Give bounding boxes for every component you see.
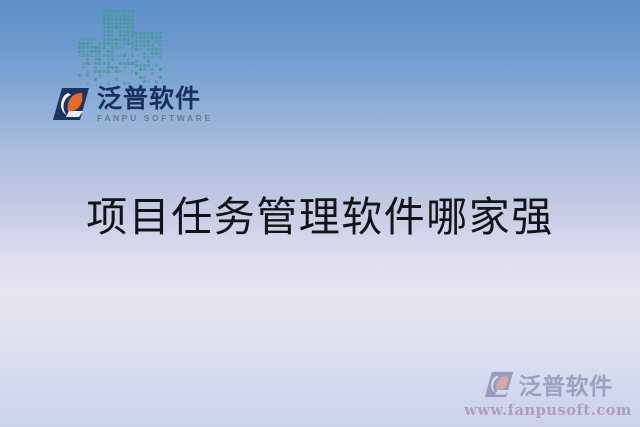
skyline-pixel <box>123 34 126 37</box>
skyline-pixel <box>78 38 81 41</box>
skyline-pixel <box>111 54 114 57</box>
skyline-pixel <box>119 18 122 21</box>
skyline-pixel <box>103 22 106 25</box>
skyline-pixel <box>115 66 118 69</box>
skyline-pixel <box>151 44 154 47</box>
skyline-pixel <box>86 54 89 57</box>
skyline-pixel <box>103 78 106 81</box>
skyline-pixel <box>82 78 85 81</box>
skyline-pixel <box>147 40 150 43</box>
skyline-pixel <box>139 72 142 75</box>
skyline-pixel <box>103 14 106 17</box>
skyline-pixel <box>115 46 118 49</box>
skyline-pixel <box>123 30 126 33</box>
skyline-pixel <box>98 58 101 61</box>
skyline-pixel <box>107 26 110 29</box>
skyline-pixel <box>127 78 130 81</box>
skyline-pixel <box>155 36 158 39</box>
skyline-pixel <box>135 64 138 67</box>
skyline-pixel <box>103 50 106 53</box>
skyline-pixel <box>115 74 118 77</box>
skyline-pixel <box>82 74 85 77</box>
skyline-pixel <box>139 80 142 83</box>
skyline-pixel <box>82 50 85 53</box>
skyline-pixel <box>131 58 134 61</box>
skyline-pixel <box>143 52 146 55</box>
skyline-pixel <box>107 18 110 21</box>
skyline-pixel <box>151 36 154 39</box>
skyline-pixel <box>135 36 138 39</box>
skyline-pixel <box>94 50 97 53</box>
skyline-pixel <box>143 32 146 35</box>
skyline-pixel <box>131 22 134 25</box>
skyline-pixel <box>143 64 146 67</box>
skyline-pixel <box>94 74 97 77</box>
skyline-pixel <box>78 58 81 61</box>
skyline-pixel <box>127 58 130 61</box>
skyline-pixel <box>143 68 146 71</box>
skyline-pixel <box>119 34 122 37</box>
skyline-pixel <box>107 34 110 37</box>
skyline-pixel <box>119 46 122 49</box>
skyline-pixel <box>135 76 138 79</box>
skyline-pixel <box>123 58 126 61</box>
skyline-pixel <box>111 66 114 69</box>
brand-wordmark: 泛普软件 FANPU SOFTWARE <box>97 86 213 123</box>
skyline-pixel <box>86 74 89 77</box>
skyline-pixel <box>123 26 126 29</box>
skyline-pixel <box>115 30 118 33</box>
skyline-pixel <box>151 32 154 35</box>
skyline-pixel <box>94 58 97 61</box>
skyline-pixel <box>151 64 154 67</box>
skyline-pixel <box>115 58 118 61</box>
skyline-pixel <box>111 18 114 21</box>
skyline-pixel <box>90 46 93 49</box>
skyline-pixel <box>115 42 118 45</box>
skyline-pixel <box>115 34 118 37</box>
skyline-pixel <box>82 70 85 73</box>
skyline-pixel <box>103 58 106 61</box>
skyline-pixel <box>107 30 110 33</box>
skyline-pixel <box>90 74 93 77</box>
skyline-pixel <box>90 66 93 69</box>
skyline-pixel <box>159 80 162 83</box>
skyline-pixel <box>123 62 126 65</box>
skyline-pixel <box>86 42 89 45</box>
skyline-pixel <box>107 22 110 25</box>
skyline-pixel <box>115 18 118 21</box>
skyline-pixel <box>78 62 81 65</box>
skyline-pixel <box>127 34 130 37</box>
skyline-pixel <box>86 38 89 41</box>
skyline-pixel <box>103 66 106 69</box>
skyline-pixel <box>107 46 110 49</box>
skyline-pixel <box>107 74 110 77</box>
skyline-pixel <box>131 70 134 73</box>
skyline-pixel <box>147 44 150 47</box>
skyline-pixel <box>90 50 93 53</box>
skyline-pixel <box>139 60 142 63</box>
watermark-lockup: 泛普软件 <box>484 367 613 401</box>
skyline-pixel <box>86 62 89 65</box>
skyline-pixel <box>123 14 126 17</box>
skyline-pixel <box>107 78 110 81</box>
skyline-pixel <box>86 50 89 53</box>
skyline-pixel <box>123 10 126 13</box>
skyline-pixel <box>82 62 85 65</box>
brand-name-en: FANPU SOFTWARE <box>97 114 213 123</box>
skyline-pixel <box>111 14 114 17</box>
skyline-pixel <box>86 58 89 61</box>
skyline-pixel <box>143 72 146 75</box>
skyline-pixel <box>78 74 81 77</box>
skyline-pixel <box>119 62 122 65</box>
skyline-pixel <box>139 52 142 55</box>
skyline-pixel <box>98 78 101 81</box>
skyline-pixel <box>78 42 81 45</box>
skyline-pixel <box>147 72 150 75</box>
skyline-pixel <box>135 80 138 83</box>
skyline-pixel <box>119 42 122 45</box>
skyline-pixel <box>94 78 97 81</box>
skyline-pixel <box>139 44 142 47</box>
skyline-pixel <box>119 22 122 25</box>
skyline-pixel <box>135 48 138 51</box>
skyline-pixel <box>151 80 154 83</box>
skyline-pixel <box>127 62 130 65</box>
skyline-pixel <box>115 14 118 17</box>
skyline-pixel <box>103 70 106 73</box>
brand-logo: 泛普软件 FANPU SOFTWARE <box>52 86 213 123</box>
skyline-pixel <box>159 56 162 59</box>
skyline-pixel <box>155 44 158 47</box>
skyline-pixel <box>123 54 126 57</box>
skyline-pixel <box>135 44 138 47</box>
skyline-pixel <box>94 42 97 45</box>
skyline-pixel <box>143 76 146 79</box>
skyline-pixel <box>78 66 81 69</box>
skyline-pixel <box>135 52 138 55</box>
brand-name-cn: 泛普软件 <box>97 86 213 111</box>
skyline-pixel <box>131 42 134 45</box>
skyline-pixel <box>151 48 154 51</box>
skyline-pixel <box>98 38 101 41</box>
skyline-pixel <box>131 62 134 65</box>
skyline-pixel <box>111 50 114 53</box>
skyline-pixel <box>94 54 97 57</box>
skyline-pixel <box>131 26 134 29</box>
skyline-pixel <box>131 50 134 53</box>
skyline-pixel <box>147 68 150 71</box>
skyline-pixel <box>135 40 138 43</box>
skyline-pixel <box>139 68 142 71</box>
skyline-pixel <box>135 56 138 59</box>
skyline-pixel <box>127 46 130 49</box>
skyline-pixel <box>103 54 106 57</box>
skyline-pixel <box>123 18 126 21</box>
skyline-pixel <box>111 46 114 49</box>
skyline-pixel <box>115 70 118 73</box>
page-title: 项目任务管理软件哪家强 <box>0 183 640 243</box>
skyline-pixel <box>131 18 134 21</box>
skyline-pixel <box>115 78 118 81</box>
skyline-pixel <box>90 42 93 45</box>
skyline-pixel <box>123 38 126 41</box>
skyline-pixel <box>127 50 130 53</box>
skyline-pixel <box>111 34 114 37</box>
skyline-pixel <box>94 38 97 41</box>
skyline-pixel <box>127 42 130 45</box>
skyline-pixel <box>135 60 138 63</box>
skyline-pixel <box>127 38 130 41</box>
skyline-pixel <box>90 54 93 57</box>
skyline-pixel <box>155 60 158 63</box>
skyline-pixel <box>111 22 114 25</box>
right-building <box>135 32 162 82</box>
skyline-pixel <box>127 66 130 69</box>
skyline-pixel <box>131 66 134 69</box>
skyline-pixel <box>155 52 158 55</box>
skyline-pixel <box>159 44 162 47</box>
skyline-pixel <box>131 54 134 57</box>
skyline-pixel <box>115 26 118 29</box>
skyline-pixel <box>98 42 101 45</box>
skyline-pixel <box>147 60 150 63</box>
skyline-pixel <box>155 64 158 67</box>
skyline-pixel <box>82 42 85 45</box>
skyline-pixel <box>103 30 106 33</box>
skyline-pixel <box>135 68 138 71</box>
skyline-pixel <box>131 30 134 33</box>
skyline-pixel <box>127 54 130 57</box>
skyline-pixel <box>90 78 93 81</box>
skyline-pixel <box>147 64 150 67</box>
skyline-pixel <box>147 80 150 83</box>
skyline-pixel <box>94 70 97 73</box>
skyline-pixel <box>98 66 101 69</box>
skyline-pixel <box>107 54 110 57</box>
skyline-pixel <box>151 60 154 63</box>
skyline-pixel <box>123 42 126 45</box>
left-building <box>78 38 101 82</box>
skyline-pixel <box>135 72 138 75</box>
skyline-pixel <box>119 30 122 33</box>
skyline-pixel <box>139 76 142 79</box>
skyline-pixel <box>119 10 122 13</box>
skyline-pixel <box>98 74 101 77</box>
skyline-pixel <box>94 66 97 69</box>
skyline-pixel <box>98 50 101 53</box>
skyline-pixel <box>78 46 81 49</box>
skyline-pixel <box>103 34 106 37</box>
skyline-pixel <box>78 54 81 57</box>
skyline-pixel <box>131 74 134 77</box>
skyline-pixel <box>151 40 154 43</box>
skyline-pixel <box>131 38 134 41</box>
skyline-pixel <box>111 26 114 29</box>
fanpu-logo-mark <box>52 87 90 121</box>
skyline-pixel <box>111 30 114 33</box>
skyline-pixel <box>155 48 158 51</box>
skyline-pixel <box>151 76 154 79</box>
skyline-pixel <box>155 68 158 71</box>
skyline-pixel <box>94 62 97 65</box>
skyline-pixel <box>127 22 130 25</box>
skyline-pixel <box>107 42 110 45</box>
skyline-pixel <box>155 76 158 79</box>
skyline-pixel <box>103 26 106 29</box>
skyline-pixel <box>139 32 142 35</box>
skyline-pixel <box>115 38 118 41</box>
skyline-pixel <box>119 54 122 57</box>
skyline-pixel <box>94 46 97 49</box>
skyline-pixel <box>127 26 130 29</box>
skyline-pixel <box>147 48 150 51</box>
skyline-pixel <box>127 30 130 33</box>
skyline-pixel <box>123 78 126 81</box>
skyline-pixel <box>111 38 114 41</box>
skyline-pixel <box>159 64 162 67</box>
skyline-pixel <box>107 66 110 69</box>
skyline-pixel <box>107 62 110 65</box>
skyline-pixel <box>103 74 106 77</box>
skyline-pixel <box>90 38 93 41</box>
skyline-pixel <box>115 50 118 53</box>
skyline-pixel <box>127 14 130 17</box>
skyline-pixel <box>131 10 134 13</box>
skyline-pixel <box>119 14 122 17</box>
skyline-pixel <box>155 32 158 35</box>
skyline-pixel <box>86 70 89 73</box>
skyline-pixel <box>127 10 130 13</box>
skyline-pixel <box>123 46 126 49</box>
skyline-pixel <box>147 76 150 79</box>
skyline-pixel <box>90 58 93 61</box>
skyline-pixel <box>143 56 146 59</box>
skyline-pixel <box>139 40 142 43</box>
skyline-pixel <box>82 58 85 61</box>
skyline-pixel <box>111 10 114 13</box>
skyline-pixel <box>103 42 106 45</box>
skyline-pixel <box>155 80 158 83</box>
skyline-pixel <box>147 56 150 59</box>
skyline-pixel <box>115 54 118 57</box>
skyline-pixel <box>98 62 101 65</box>
skyline-pixel <box>155 40 158 43</box>
skyline-pixel <box>111 58 114 61</box>
skyline-pixel <box>119 66 122 69</box>
skyline-pixel <box>119 70 122 73</box>
skyline-pixel <box>147 52 150 55</box>
skyline-pixel <box>139 48 142 51</box>
skyline-pixel <box>143 48 146 51</box>
skyline-pixel <box>155 56 158 59</box>
center-building <box>103 10 134 82</box>
skyline-pixel <box>139 56 142 59</box>
skyline-pixel <box>78 50 81 53</box>
skyline-pixel <box>159 36 162 39</box>
skyline-pixel <box>123 74 126 77</box>
skyline-pixel <box>143 80 146 83</box>
skyline-pixel <box>143 36 146 39</box>
skyline-pixel <box>82 54 85 57</box>
skyline-pixel <box>123 22 126 25</box>
skyline-pixel <box>98 46 101 49</box>
skyline-pixel <box>131 46 134 49</box>
watermark: 泛普软件 www.fanpusoft.com <box>464 367 632 419</box>
skyline-pixel <box>98 70 101 73</box>
skyline-pixel <box>78 82 81 85</box>
skyline-pixel <box>159 68 162 71</box>
skyline-pixel <box>103 10 106 13</box>
skyline-pixel <box>107 10 110 13</box>
skyline-pixel <box>90 70 93 73</box>
skyline-pixel <box>159 60 162 63</box>
skyline-pixel <box>155 72 158 75</box>
skyline-pixel <box>86 46 89 49</box>
skyline-pixel <box>143 44 146 47</box>
fanpu-watermark-mark <box>484 371 514 398</box>
skyline-pixel <box>151 68 154 71</box>
skyline-pixel <box>82 46 85 49</box>
skyline-pixel <box>159 48 162 51</box>
skyline-pixel <box>127 70 130 73</box>
skyline-pixel <box>151 52 154 55</box>
skyline-pixel <box>103 38 106 41</box>
skyline-pixel <box>111 42 114 45</box>
skyline-pixel <box>159 76 162 79</box>
skyline-pixel <box>115 10 118 13</box>
watermark-url: www.fanpusoft.com <box>464 402 632 419</box>
skyline-pixel <box>111 62 114 65</box>
skyline-pixel <box>143 40 146 43</box>
slide-canvas: 泛普软件 FANPU SOFTWARE 项目任务管理软件哪家强 泛普软件 www… <box>0 0 640 427</box>
skyline-pixel <box>111 78 114 81</box>
skyline-pixel <box>90 82 93 85</box>
pixel-skyline-buildings <box>74 0 204 90</box>
skyline-pixel <box>86 82 89 85</box>
skyline-pixel <box>103 62 106 65</box>
skyline-pixel <box>107 38 110 41</box>
skyline-pixel <box>107 14 110 17</box>
skyline-pixel <box>90 62 93 65</box>
skyline-pixel <box>159 52 162 55</box>
skyline-pixel <box>119 58 122 61</box>
skyline-pixel <box>82 38 85 41</box>
skyline-pixel <box>151 56 154 59</box>
skyline-pixel <box>107 58 110 61</box>
skyline-pixel <box>78 70 81 73</box>
skyline-pixel <box>115 62 118 65</box>
skyline-pixel <box>119 26 122 29</box>
skyline-pixel <box>119 50 122 53</box>
skyline-pixel <box>123 70 126 73</box>
skyline-pixel <box>135 32 138 35</box>
skyline-pixel <box>131 14 134 17</box>
skyline-pixel <box>127 18 130 21</box>
skyline-pixel <box>103 18 106 21</box>
skyline-pixel <box>127 74 130 77</box>
skyline-pixel <box>111 70 114 73</box>
skyline-pixel <box>78 78 81 81</box>
skyline-pixel <box>111 74 114 77</box>
skyline-pixel <box>131 78 134 81</box>
skyline-pixel <box>119 38 122 41</box>
skyline-pixel <box>143 60 146 63</box>
skyline-pixel <box>103 46 106 49</box>
skyline-pixel <box>147 36 150 39</box>
